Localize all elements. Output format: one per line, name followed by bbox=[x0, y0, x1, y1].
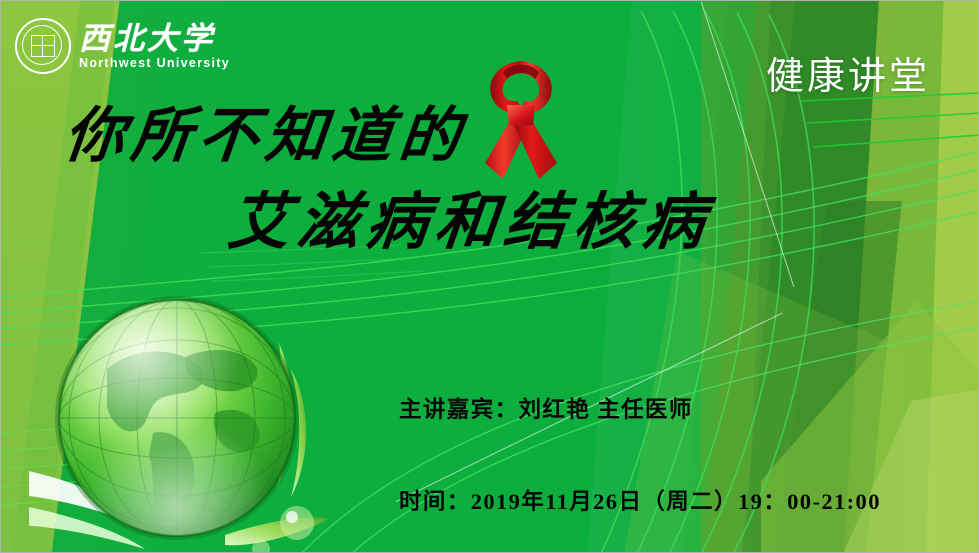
info-line-time: 时间：2019年11月26日（周二）19：00-21:00 bbox=[399, 487, 881, 518]
university-name-block: 西北大学 Northwest University bbox=[79, 23, 230, 70]
globe-graphic bbox=[29, 273, 329, 553]
series-label: 健康讲堂 bbox=[766, 45, 930, 100]
university-logo: 西北大学 Northwest University bbox=[15, 18, 230, 74]
headline-line-1: 你所不知道的 bbox=[60, 87, 471, 174]
info-line-speaker: 主讲嘉宾：刘红艳 主任医师 bbox=[399, 395, 881, 426]
university-name-en: Northwest University bbox=[79, 57, 230, 70]
event-info-block: 主讲嘉宾：刘红艳 主任医师 时间：2019年11月26日（周二）19：00-21… bbox=[399, 334, 881, 553]
health-lecture-poster: 西北大学 Northwest University 健康讲堂 你所不知道的 艾滋… bbox=[0, 0, 979, 553]
seal-core-icon bbox=[31, 35, 55, 57]
university-name-cn: 西北大学 bbox=[79, 23, 230, 54]
headline-line-2: 艾滋病和结核病 bbox=[224, 171, 716, 261]
red-awareness-ribbon-icon bbox=[473, 53, 569, 185]
university-seal-icon bbox=[15, 18, 71, 74]
